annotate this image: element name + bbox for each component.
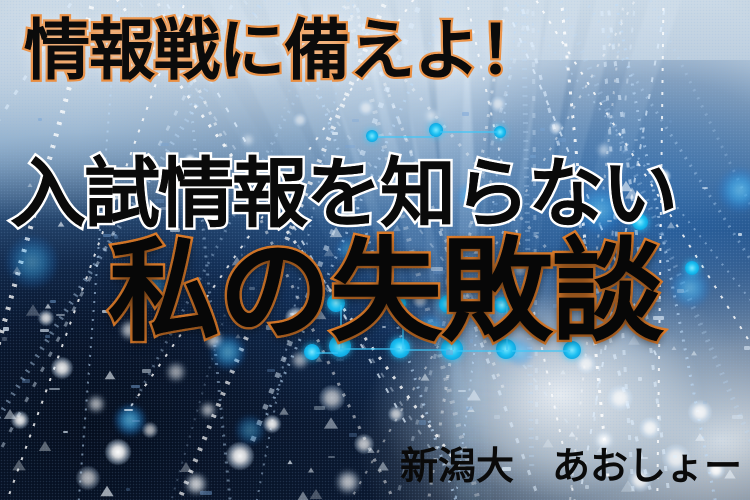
headline-line-2: 入試情報を知らない [10,156,676,232]
thumbnail-canvas: 情報戦に備えよ！ 情報戦に備えよ！ 入試情報を知らない 入試情報を知らない 私の… [0,0,750,500]
headline-line-3: 私の失敗談 [108,236,663,348]
credit-byline: 新潟大 あおしょー [400,447,742,485]
headline-line-1: 情報戦に備えよ！ [24,18,544,84]
